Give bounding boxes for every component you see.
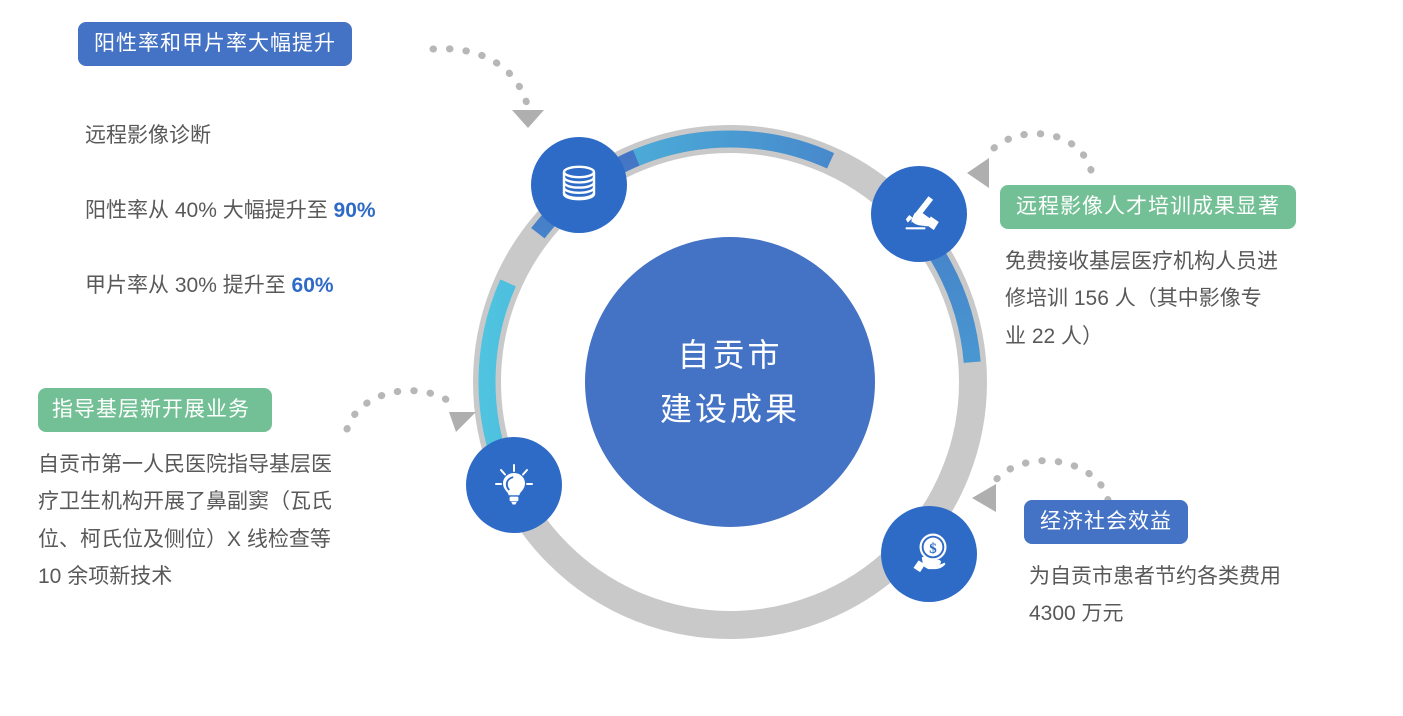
callout-line-3-highlight: 60% [292, 274, 334, 297]
database-icon [556, 162, 602, 208]
callout-line-2-highlight: 90% [334, 199, 376, 222]
hand-coin-icon: $ [904, 529, 954, 579]
node-new-services[interactable] [466, 437, 562, 533]
callout-line-2-pre: 阳性率从 40% 大幅提升至 [85, 199, 334, 222]
node-positive-rate[interactable] [531, 137, 627, 233]
callout-body-economic: 为自贡市患者节约各类费用 4300 万元 [1024, 558, 1394, 633]
callout-bottom-right: 经济社会效益 为自贡市患者节约各类费用 4300 万元 [1024, 500, 1394, 633]
callout-badge-positive-rate[interactable]: 阳性率和甲片率大幅提升 [78, 22, 352, 66]
hub-title-line-2: 建设成果 [660, 393, 800, 425]
svg-text:$: $ [929, 541, 937, 557]
node-economic-benefit[interactable]: $ [881, 506, 977, 602]
callout-top-right: 远程影像人才培训成果显著 免费接收基层医疗机构人员进 修培训 156 人（其中影… [1000, 185, 1385, 355]
callout-top-left: 阳性率和甲片率大幅提升 远程影像诊断 阳性率从 40% 大幅提升至 90% 甲片… [78, 22, 508, 342]
hub-title-line-1: 自贡市 [677, 339, 782, 371]
callout-line-1: 远程影像诊断 [85, 124, 211, 147]
callout-body-new-services: 自贡市第一人民医院指导基层医 疗卫生机构开展了鼻副窦（瓦氏 位、柯氏位及侧位）X… [38, 446, 458, 596]
callout-badge-training[interactable]: 远程影像人才培训成果显著 [1000, 185, 1296, 229]
callout-bottom-left: 指导基层新开展业务 自贡市第一人民医院指导基层医 疗卫生机构开展了鼻副窦（瓦氏 … [38, 388, 458, 596]
callout-body-positive-rate: 远程影像诊断 阳性率从 40% 大幅提升至 90% 甲片率从 30% 提升至 6… [78, 80, 508, 342]
center-hub: 自贡市 建设成果 [585, 237, 875, 527]
hand-writing-icon [894, 189, 944, 239]
node-training[interactable] [871, 166, 967, 262]
callout-body-training: 免费接收基层医疗机构人员进 修培训 156 人（其中影像专 业 22 人） [1000, 243, 1385, 355]
callout-badge-new-services[interactable]: 指导基层新开展业务 [38, 388, 272, 432]
callout-line-3-pre: 甲片率从 30% 提升至 [85, 274, 292, 297]
lightbulb-icon [490, 461, 538, 509]
callout-badge-economic[interactable]: 经济社会效益 [1024, 500, 1188, 544]
